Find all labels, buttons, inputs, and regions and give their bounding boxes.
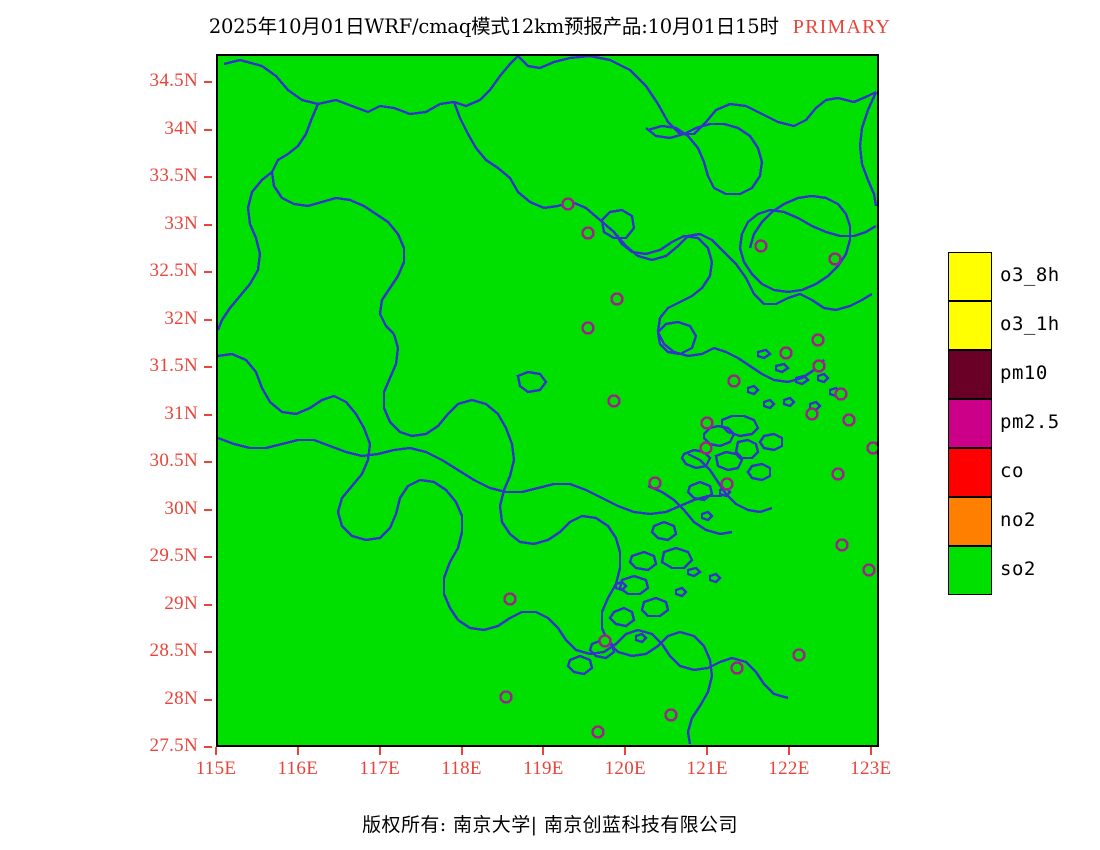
y-tick-mark (204, 746, 212, 748)
y-tick-label: 32N (110, 308, 198, 330)
x-tick-mark (215, 747, 217, 755)
station-marker[interactable] (868, 443, 878, 454)
legend-item-o31h[interactable]: o3_1h (948, 301, 1098, 350)
x-tick-label: 119E (498, 758, 588, 780)
y-tick-mark (204, 176, 212, 178)
station-marker[interactable] (756, 241, 767, 252)
y-tick-mark (204, 651, 212, 653)
legend-color-swatch (948, 546, 992, 595)
station-marker[interactable] (701, 443, 712, 454)
legend-color-swatch (948, 399, 992, 448)
y-tick-label: 30.5N (110, 450, 198, 472)
x-tick-label: 115E (171, 758, 261, 780)
x-tick-label: 117E (335, 758, 425, 780)
x-tick-label: 123E (826, 758, 916, 780)
x-tick-mark (870, 747, 872, 755)
legend-item-o38h[interactable]: o3_8h (948, 252, 1098, 301)
map-plot-area[interactable] (216, 54, 879, 747)
station-marker[interactable] (833, 469, 844, 480)
y-tick-label: 34N (110, 118, 198, 140)
legend-color-swatch (948, 448, 992, 497)
station-marker[interactable] (844, 415, 855, 426)
x-tick-label: 122E (744, 758, 834, 780)
y-tick-label: 29N (110, 593, 198, 615)
station-marker[interactable] (609, 396, 620, 407)
y-tick-label: 29.5N (110, 545, 198, 567)
y-tick-mark (204, 319, 212, 321)
y-tick-mark (204, 224, 212, 226)
legend-item-pm10[interactable]: pm10 (948, 350, 1098, 399)
station-marker[interactable] (501, 692, 512, 703)
station-marker[interactable] (612, 294, 623, 305)
y-tick-mark (204, 271, 212, 273)
legend-color-swatch (948, 252, 992, 301)
primary-badge: PRIMARY (793, 16, 891, 38)
x-tick-mark (706, 747, 708, 755)
x-tick-label: 118E (417, 758, 507, 780)
x-tick-mark (624, 747, 626, 755)
x-tick-label: 120E (580, 758, 670, 780)
station-marker[interactable] (505, 594, 516, 605)
y-tick-mark (204, 604, 212, 606)
station-marker[interactable] (702, 418, 713, 429)
y-tick-mark (204, 699, 212, 701)
legend-label: o3_8h (1000, 264, 1060, 286)
station-marker[interactable] (583, 228, 594, 239)
legend-label: pm10 (1000, 362, 1048, 384)
legend-item-co[interactable]: co (948, 448, 1098, 497)
station-marker[interactable] (837, 540, 848, 551)
y-tick-label: 31N (110, 403, 198, 425)
y-tick-label: 33N (110, 213, 198, 235)
map-geography (218, 56, 877, 745)
station-markers (501, 199, 878, 738)
pollutant-legend[interactable]: o3_8ho3_1hpm10pm2.5cono2so2 (948, 252, 1098, 595)
x-tick-mark (297, 747, 299, 755)
station-marker[interactable] (864, 565, 875, 576)
y-tick-label: 32.5N (110, 260, 198, 282)
chart-title-bar: 2025年10月01日WRF/cmaq模式12km预报产品:10月01日15时P… (0, 10, 1100, 39)
y-tick-mark (204, 129, 212, 131)
legend-label: no2 (1000, 509, 1036, 531)
x-tick-mark (542, 747, 544, 755)
legend-item-so2[interactable]: so2 (948, 546, 1098, 595)
station-marker[interactable] (729, 376, 740, 387)
y-tick-mark (204, 81, 212, 83)
y-tick-mark (204, 461, 212, 463)
station-marker[interactable] (781, 348, 792, 359)
station-marker[interactable] (807, 409, 818, 420)
copyright-footer: 版权所有: 南京大学| 南京创蓝科技有限公司 (0, 810, 1100, 837)
x-tick-mark (379, 747, 381, 755)
y-tick-label: 28.5N (110, 640, 198, 662)
legend-color-swatch (948, 497, 992, 546)
station-marker[interactable] (593, 727, 604, 738)
y-tick-label: 27.5N (110, 735, 198, 757)
y-tick-label: 34.5N (110, 70, 198, 92)
station-marker[interactable] (814, 361, 825, 372)
x-tick-mark (788, 747, 790, 755)
legend-label: pm2.5 (1000, 411, 1060, 433)
station-marker[interactable] (813, 335, 824, 346)
station-marker[interactable] (650, 478, 661, 489)
legend-label: co (1000, 460, 1024, 482)
station-marker[interactable] (830, 254, 841, 265)
x-tick-mark (461, 747, 463, 755)
legend-label: so2 (1000, 558, 1036, 580)
station-marker[interactable] (583, 323, 594, 334)
legend-color-swatch (948, 301, 992, 350)
legend-label: o3_1h (1000, 313, 1060, 335)
legend-color-swatch (948, 350, 992, 399)
station-marker[interactable] (732, 663, 743, 674)
province-boundaries (218, 56, 876, 744)
y-tick-label: 28N (110, 688, 198, 710)
y-tick-mark (204, 414, 212, 416)
x-tick-label: 116E (253, 758, 343, 780)
station-marker[interactable] (794, 650, 805, 661)
x-tick-label: 121E (662, 758, 752, 780)
page-title: 2025年10月01日WRF/cmaq模式12km预报产品:10月01日15时 (209, 15, 779, 38)
station-marker[interactable] (563, 199, 574, 210)
y-tick-label: 31.5N (110, 355, 198, 377)
y-tick-mark (204, 556, 212, 558)
y-tick-mark (204, 509, 212, 511)
station-marker[interactable] (836, 389, 847, 400)
station-marker[interactable] (600, 636, 611, 647)
y-tick-mark (204, 366, 212, 368)
legend-item-pm25[interactable]: pm2.5 (948, 399, 1098, 448)
y-tick-label: 33.5N (110, 165, 198, 187)
station-marker[interactable] (722, 479, 733, 490)
station-marker[interactable] (666, 710, 677, 721)
y-tick-label: 30N (110, 498, 198, 520)
legend-item-no2[interactable]: no2 (948, 497, 1098, 546)
